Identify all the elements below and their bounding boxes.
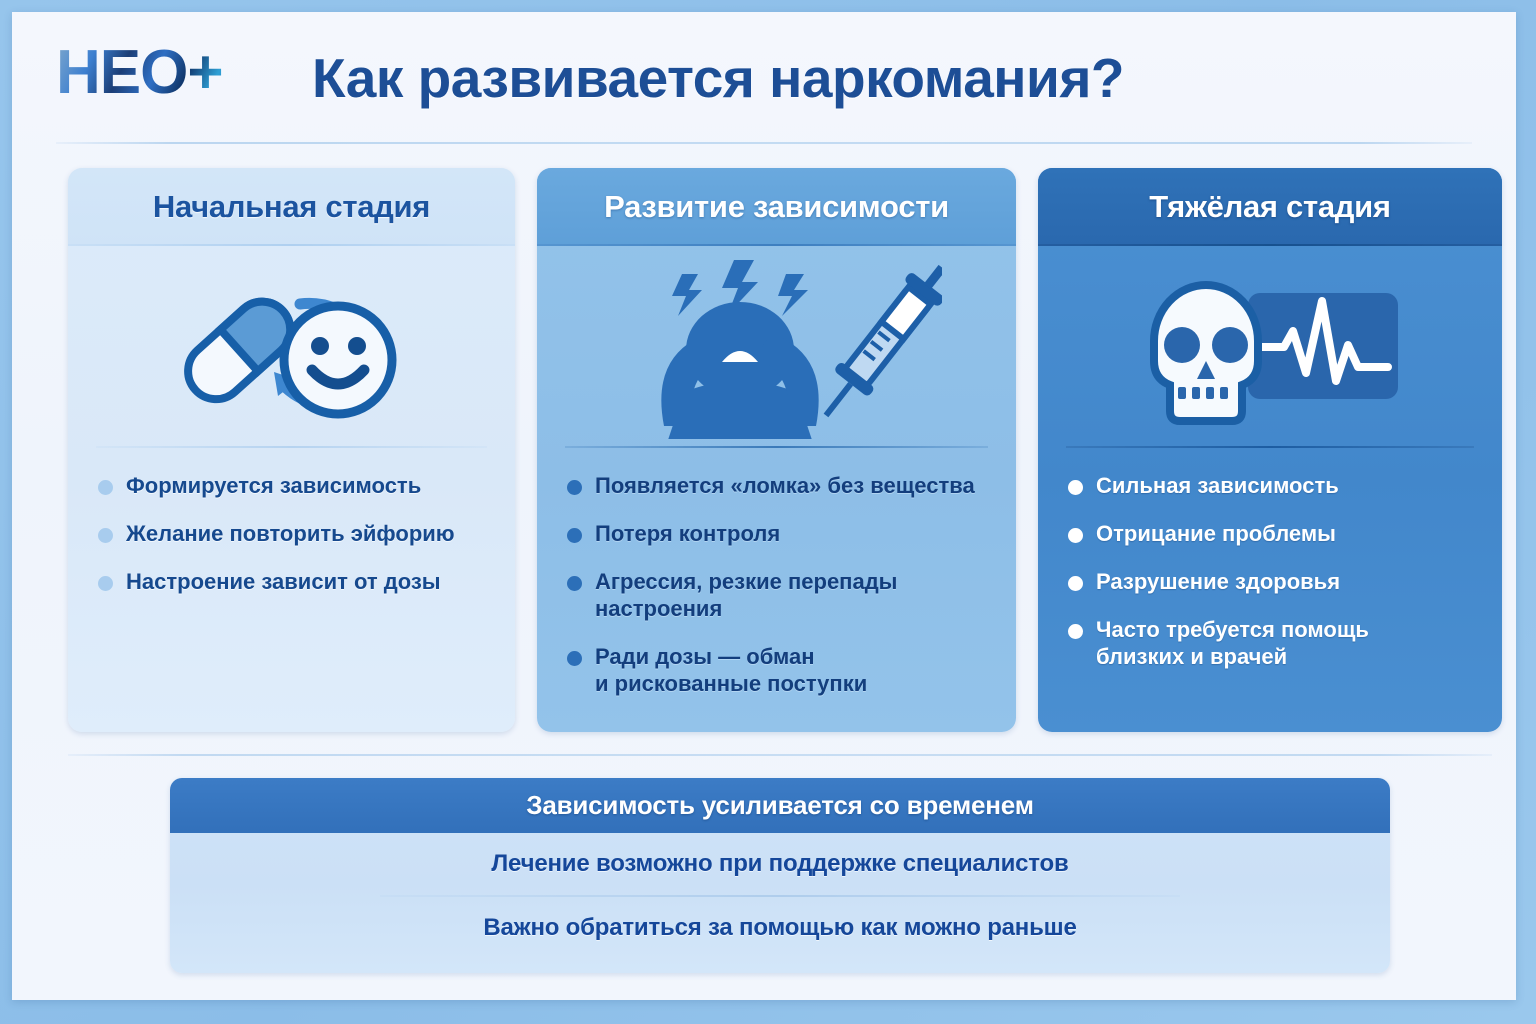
page-title: Как развивается наркомания? <box>312 46 1124 110</box>
bullet-text: Часто требуется помощь близких и врачей <box>1096 616 1369 670</box>
bullet-dot-icon <box>98 576 113 591</box>
bullet-dot-icon <box>98 528 113 543</box>
bullet-text: Желание повторить эйфорию <box>126 520 455 547</box>
list-item: Формируется зависимость <box>98 472 489 499</box>
summary-headline: Зависимость усиливается со временем <box>526 790 1034 821</box>
bullet-dot-icon <box>567 480 582 495</box>
bullet-dot-icon <box>567 528 582 543</box>
list-item: Потеря контроля <box>567 520 990 547</box>
bullet-text: Появляется «ломка» без вещества <box>595 472 975 499</box>
list-item: Отрицание проблемы <box>1068 520 1476 547</box>
list-item: Часто требуется помощь близких и врачей <box>1068 616 1476 670</box>
bullet-dot-icon <box>567 576 582 591</box>
stages-row: Начальная стадия <box>68 168 1502 732</box>
header-divider <box>56 142 1472 144</box>
bullet-text: Формируется зависимость <box>126 472 421 499</box>
pill-smiley-cycle-icon <box>68 246 515 446</box>
bullet-dot-icon <box>1068 624 1083 639</box>
summary-panel: Зависимость усиливается со временем Лече… <box>170 778 1390 973</box>
list-item: Настроение зависит от дозы <box>98 568 489 595</box>
neo-plus-logo: НЕО+ <box>56 42 223 104</box>
bullet-text: Настроение зависит от дозы <box>126 568 441 595</box>
infographic-page: НЕО+ Как развивается наркомания? Начальн… <box>12 12 1516 1000</box>
bullet-text: Отрицание проблемы <box>1096 520 1336 547</box>
bullet-text: Ради дозы — обман и рискованные поступки <box>595 643 867 697</box>
stage-card-tyazhelaya-stadiya: Тяжёлая стадия <box>1038 168 1502 732</box>
header: НЕО+ Как развивается наркомания? <box>12 12 1516 136</box>
summary-row-2: Важно обратиться за помощью как можно ра… <box>170 897 1390 959</box>
bullet-dot-icon <box>567 651 582 666</box>
card-1-bullets: Формируется зависимость Желание повторит… <box>68 448 515 732</box>
summary-bottom-pad <box>170 959 1390 973</box>
stage-card-nachalnaya-stadiya: Начальная стадия <box>68 168 515 732</box>
bullet-text: Разрушение здоровья <box>1096 568 1340 595</box>
card-title-2: Развитие зависимости <box>604 189 949 225</box>
summary-row-1: Лечение возможно при поддержке специалис… <box>170 833 1390 895</box>
summary-headline-band: Зависимость усиливается со временем <box>170 778 1390 833</box>
stage-card-razvitie-zavisimosti: Развитие зависимости <box>537 168 1016 732</box>
bullet-text: Сильная зависимость <box>1096 472 1339 499</box>
bullet-dot-icon <box>98 480 113 495</box>
list-item: Ради дозы — обман и рискованные поступки <box>567 643 990 697</box>
distressed-person-syringe-icon <box>537 246 1016 446</box>
footer-divider <box>68 754 1492 756</box>
card-2-bullets: Появляется «ломка» без вещества Потеря к… <box>537 448 1016 732</box>
card-3-bullets: Сильная зависимость Отрицание проблемы Р… <box>1038 448 1502 732</box>
outer-frame: НЕО+ Как развивается наркомания? Начальн… <box>0 0 1536 1024</box>
list-item: Разрушение здоровья <box>1068 568 1476 595</box>
list-item: Желание повторить эйфорию <box>98 520 489 547</box>
card-title-3: Тяжёлая стадия <box>1149 189 1390 225</box>
card-header-1: Начальная стадия <box>68 168 515 246</box>
bullet-dot-icon <box>1068 528 1083 543</box>
card-header-2: Развитие зависимости <box>537 168 1016 246</box>
bullet-text: Потеря контроля <box>595 520 780 547</box>
bullet-dot-icon <box>1068 576 1083 591</box>
list-item: Агрессия, резкие перепады настроения <box>567 568 990 622</box>
card-header-3: Тяжёлая стадия <box>1038 168 1502 246</box>
list-item: Сильная зависимость <box>1068 472 1476 499</box>
card-title-1: Начальная стадия <box>153 189 430 225</box>
list-item: Появляется «ломка» без вещества <box>567 472 990 499</box>
bullet-dot-icon <box>1068 480 1083 495</box>
bullet-text: Агрессия, резкие перепады настроения <box>595 568 990 622</box>
skull-ecg-monitor-icon <box>1038 246 1502 446</box>
